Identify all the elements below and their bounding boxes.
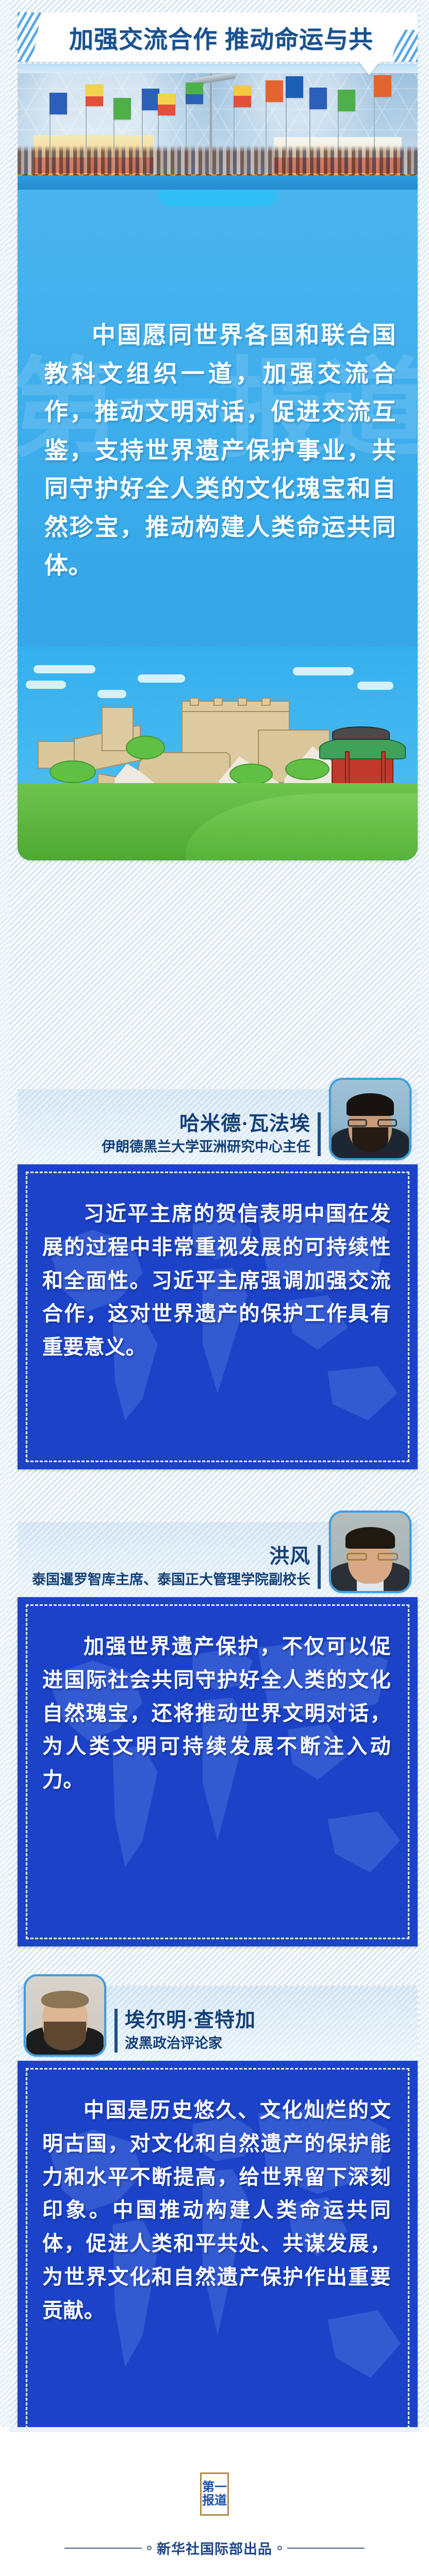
title-banner-wrap: 加强交流合作 推动命运与共 (18, 12, 418, 72)
credit-dot-right-icon (277, 2546, 282, 2550)
expert-name: 哈米德·瓦法埃 (179, 1112, 310, 1136)
main-quote-panel: 第一报道 中国愿同世界各国和联合国教科文组织一道，加强交流合作，推动文明对话，促… (18, 190, 418, 860)
flag-icon (266, 80, 283, 102)
expert-quote-card: 中国是历史悠久、文化灿烂的文明古国，对文化和自然遗产的保护能力和水平不断提高，给… (18, 2061, 418, 2473)
expert-quote-card: 加强世界遗产保护，不仅可以促进国际社会共同守护好全人类的文化自然瑰宝，还将推动世… (18, 1597, 418, 1946)
title-banner: 加强交流合作 推动命运与共 (18, 12, 418, 62)
expert-title: 波黑政治评论家 (125, 2035, 222, 2053)
flag-icon (234, 86, 251, 107)
expert-portrait-avatar (329, 1511, 411, 1593)
expert-name-box: 洪风 泰国暹罗智库主席、泰国正大管理学院副校长 (32, 1545, 321, 1589)
flag-icon (113, 98, 131, 120)
expert-name: 埃尔明·查特加 (125, 2009, 256, 2032)
credit-rule-left (64, 2548, 142, 2549)
footer: 第一 报道 新华社国际部出品 (0, 2427, 429, 2576)
hero-photo (18, 67, 418, 191)
expert-quote-text: 中国是历史悠久、文化灿烂的文明古国，对文化和自然遗产的保护能力和水平不断提高，给… (18, 2061, 418, 2348)
expert-header: 哈米德·瓦法埃 伊朗德黑兰大学亚洲研究中心主任 (18, 1061, 418, 1164)
flag-icon (309, 88, 327, 109)
expert-block: 哈米德·瓦法埃 伊朗德黑兰大学亚洲研究中心主任 (18, 1061, 418, 1469)
first-report-stamp-logo: 第一 报道 (200, 2472, 229, 2516)
expert-name-box: 哈米德·瓦法埃 伊朗德黑兰大学亚洲研究中心主任 (102, 1112, 321, 1156)
flag-icon (49, 93, 67, 114)
flag-icon (338, 90, 355, 111)
stamp-line-1: 第一 (202, 2481, 227, 2494)
expert-title: 伊朗德黑兰大学亚洲研究中心主任 (102, 1138, 310, 1156)
quote-panel-tab (158, 190, 277, 206)
expert-block: 埃尔明·查特加 波黑政治评论家 (18, 1958, 418, 2473)
expert-header: 埃尔明·查特加 波黑政治评论家 (18, 1958, 418, 2061)
hero-stage-floor (18, 175, 418, 191)
flag-icon (158, 94, 175, 115)
flag-icon (142, 89, 159, 110)
title-pointer-notch-icon (359, 61, 379, 75)
expert-name: 洪风 (269, 1545, 310, 1569)
expert-header: 洪风 泰国暹罗智库主席、泰国正大管理学院副校长 (18, 1494, 418, 1597)
great-wall-illustration (18, 647, 418, 860)
right-edge-hatch (420, 0, 429, 2576)
expert-quote-card: 习近平主席的贺信表明中国在发展的过程中非常重视发展的可持续性和全面性。习近平主席… (18, 1164, 418, 1469)
footer-top-divider (9, 2427, 420, 2432)
flag-icon (374, 75, 391, 97)
credit-dot-left-icon (147, 2546, 152, 2550)
expert-name-box: 埃尔明·查特加 波黑政治评论家 (114, 2009, 256, 2053)
flag-icon (186, 82, 203, 104)
hero-crowd (18, 145, 418, 175)
expert-portrait-avatar (24, 1974, 106, 2057)
credit-row: 新华社国际部出品 (0, 2538, 429, 2558)
main-quote-text: 中国愿同世界各国和联合国教科文组织一道，加强交流合作，推动文明对话，促进交流互鉴… (44, 316, 396, 585)
expert-title: 泰国暹罗智库主席、泰国正大管理学院副校长 (32, 1571, 310, 1589)
stamp-line-2: 报道 (202, 2494, 227, 2507)
expert-quote-text: 加强世界遗产保护，不仅可以促进国际社会共同守护好全人类的文化自然瑰宝，还将推动世… (18, 1597, 418, 1818)
poster-root: 加强交流合作 推动命运与共 (0, 0, 429, 2576)
page-title: 加强交流合作 推动命运与共 (18, 20, 418, 55)
credit-rule-right (287, 2548, 365, 2549)
expert-portrait-avatar (329, 1078, 411, 1160)
flag-icon (86, 84, 103, 106)
flag-icon (286, 76, 303, 98)
expert-quote-text: 习近平主席的贺信表明中国在发展的过程中非常重视发展的可持续性和全面性。习近平主席… (18, 1164, 418, 1385)
left-edge-hatch (0, 0, 9, 2576)
credit-text: 新华社国际部出品 (157, 2538, 272, 2558)
title-underbar (18, 64, 418, 73)
expert-block: 洪风 泰国暹罗智库主席、泰国正大管理学院副校长 (18, 1494, 418, 1946)
